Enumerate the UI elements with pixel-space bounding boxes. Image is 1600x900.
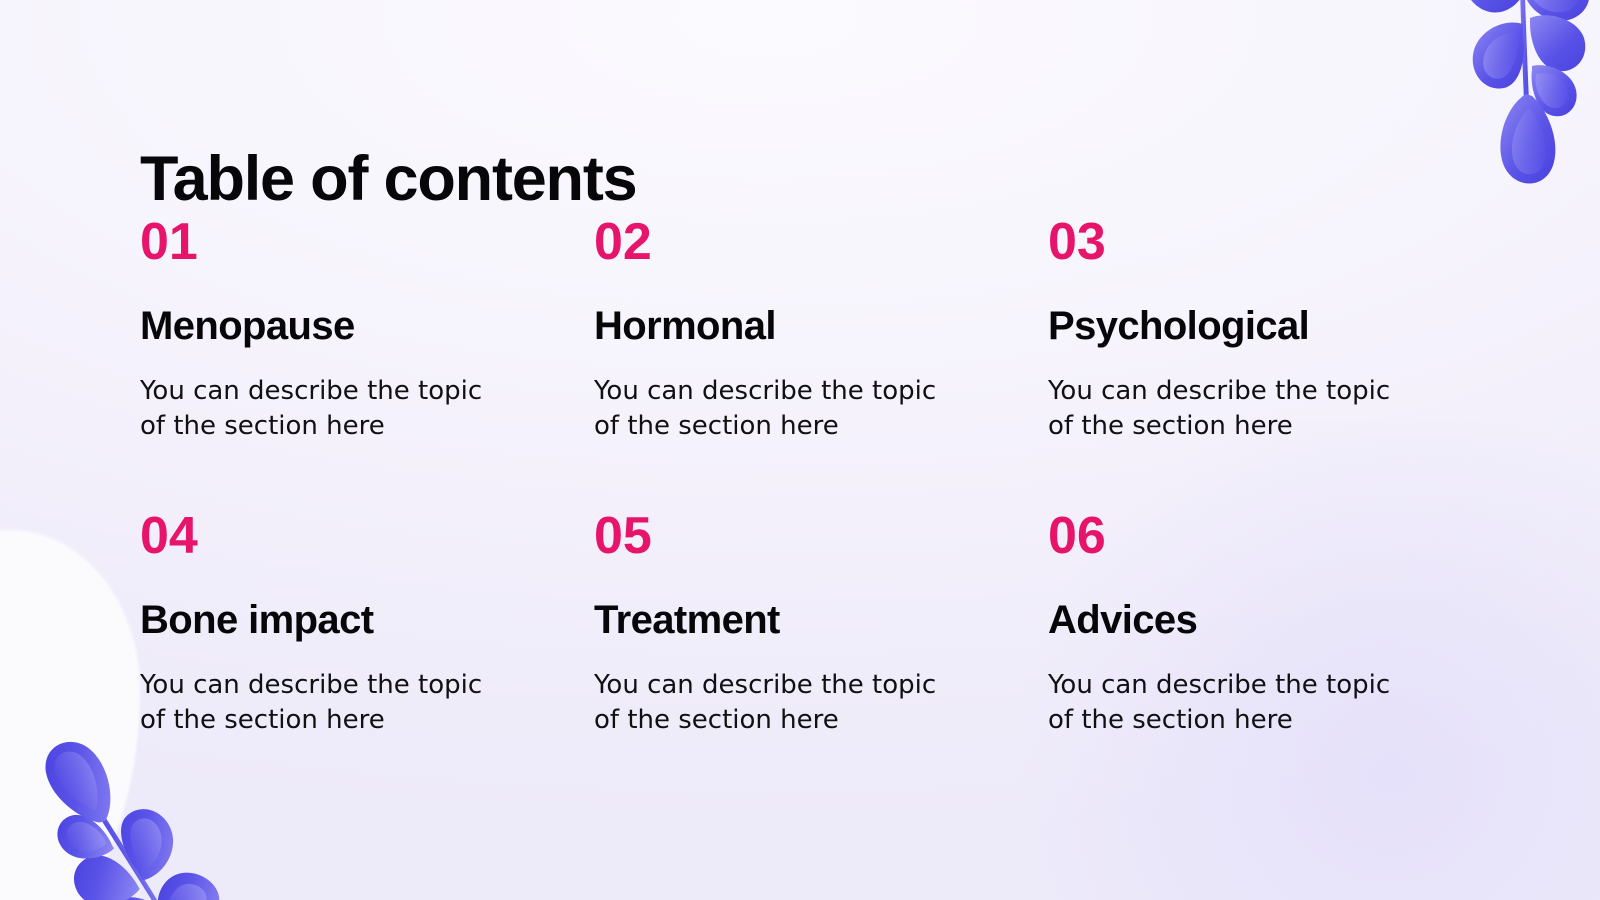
toc-item-01[interactable]: 01 Menopause You can describe the topic …: [140, 216, 594, 510]
toc-item-heading: Treatment: [594, 600, 1048, 640]
toc-item-number: 01: [140, 216, 594, 268]
toc-item-description: You can describe the topic of the sectio…: [594, 374, 964, 444]
toc-item-heading: Hormonal: [594, 306, 1048, 346]
toc-item-description: You can describe the topic of the sectio…: [1048, 668, 1418, 738]
toc-item-heading: Advices: [1048, 600, 1448, 640]
toc-item-number: 05: [594, 510, 1048, 562]
toc-item-heading: Menopause: [140, 306, 594, 346]
toc-item-04[interactable]: 04 Bone impact You can describe the topi…: [140, 510, 594, 738]
toc-item-heading: Psychological: [1048, 306, 1448, 346]
toc-item-03[interactable]: 03 Psychological You can describe the to…: [1048, 216, 1448, 510]
toc-item-number: 04: [140, 510, 594, 562]
toc-item-05[interactable]: 05 Treatment You can describe the topic …: [594, 510, 1048, 738]
slide-canvas: Table of contents 01 Menopause You can d…: [0, 0, 1600, 900]
contents-grid: 01 Menopause You can describe the topic …: [140, 216, 1470, 738]
toc-item-heading: Bone impact: [140, 600, 594, 640]
toc-item-description: You can describe the topic of the sectio…: [140, 668, 510, 738]
toc-item-number: 03: [1048, 216, 1448, 268]
toc-item-number: 02: [594, 216, 1048, 268]
toc-item-description: You can describe the topic of the sectio…: [140, 374, 510, 444]
toc-item-description: You can describe the topic of the sectio…: [594, 668, 964, 738]
leaf-branch-top-right-icon: [1426, 0, 1600, 188]
toc-item-06[interactable]: 06 Advices You can describe the topic of…: [1048, 510, 1448, 738]
toc-item-description: You can describe the topic of the sectio…: [1048, 374, 1418, 444]
toc-item-number: 06: [1048, 510, 1448, 562]
page-title: Table of contents: [140, 146, 636, 212]
toc-item-02[interactable]: 02 Hormonal You can describe the topic o…: [594, 216, 1048, 510]
